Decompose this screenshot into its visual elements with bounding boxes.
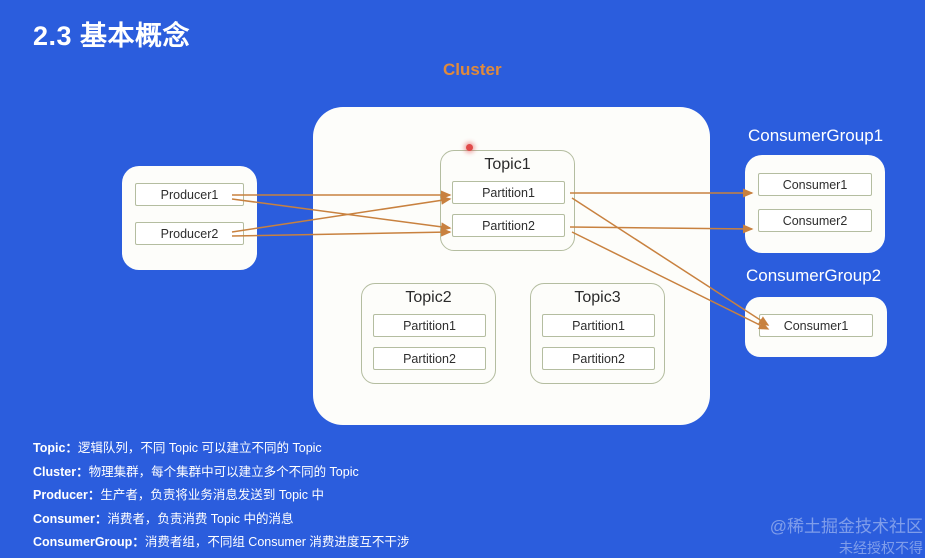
partition-topic2-1: Partition1 (373, 314, 486, 337)
legend: Topic：逻辑队列，不同 Topic 可以建立不同的 Topic Cluste… (33, 437, 513, 555)
consumer-group-2-panel: Consumer1 (745, 297, 887, 357)
producer-1: Producer1 (135, 183, 244, 206)
legend-term: Topic： (33, 441, 78, 455)
legend-item: Producer：生产者，负责将业务消息发送到 Topic 中 (33, 484, 513, 508)
legend-desc: 消费者组，不同组 Consumer 消费进度互不干涉 (145, 535, 410, 549)
watermark-main: @稀土掘金技术社区 (770, 515, 923, 538)
consumer-group-1-panel: Consumer1 Consumer2 (745, 155, 885, 253)
legend-term: Producer： (33, 488, 100, 502)
legend-desc: 物理集群，每个集群中可以建立多个不同的 Topic (89, 465, 359, 479)
topic-box-topic2: Topic2 Partition1 Partition2 (361, 283, 496, 384)
legend-desc: 生产者，负责将业务消息发送到 Topic 中 (100, 488, 324, 502)
legend-item: Topic：逻辑队列，不同 Topic 可以建立不同的 Topic (33, 437, 513, 461)
topic-box-topic3: Topic3 Partition1 Partition2 (530, 283, 665, 384)
legend-item: ConsumerGroup：消费者组，不同组 Consumer 消费进度互不干涉 (33, 531, 513, 555)
watermark-sub: 未经授权不得 (770, 538, 923, 558)
topic-title-topic2: Topic2 (362, 289, 495, 307)
legend-item: Cluster：物理集群，每个集群中可以建立多个不同的 Topic (33, 461, 513, 485)
consumer-group-2-label: ConsumerGroup2 (746, 266, 881, 286)
topic-title-topic3: Topic3 (531, 289, 664, 307)
topic1-status-dot-icon (466, 144, 473, 151)
page-title: 2.3 基本概念 (33, 14, 190, 53)
watermark: @稀土掘金技术社区 未经授权不得 (770, 515, 923, 558)
consumer-group-1-label: ConsumerGroup1 (748, 126, 883, 146)
legend-term: Cluster： (33, 465, 89, 479)
legend-term: Consumer： (33, 512, 107, 526)
legend-desc: 消费者，负责消费 Topic 中的消息 (107, 512, 293, 526)
partition-topic3-1: Partition1 (542, 314, 655, 337)
consumer-group-2-consumer-1: Consumer1 (759, 314, 873, 337)
producer-2: Producer2 (135, 222, 244, 245)
legend-term: ConsumerGroup： (33, 535, 145, 549)
topic-title-topic1: Topic1 (441, 156, 574, 174)
partition-topic1-2: Partition2 (452, 214, 565, 237)
slide-canvas: 2.3 基本概念 Cluster Topic1 Partition1 Parti… (0, 0, 925, 558)
legend-item: Consumer：消费者，负责消费 Topic 中的消息 (33, 508, 513, 532)
partition-topic1-1: Partition1 (452, 181, 565, 204)
cluster-label: Cluster (443, 60, 502, 80)
consumer-group-1-consumer-2: Consumer2 (758, 209, 872, 232)
partition-topic3-2: Partition2 (542, 347, 655, 370)
topic-box-topic1: Topic1 Partition1 Partition2 (440, 150, 575, 251)
legend-desc: 逻辑队列，不同 Topic 可以建立不同的 Topic (78, 441, 322, 455)
producer-panel: Producer1 Producer2 (122, 166, 257, 270)
partition-topic2-2: Partition2 (373, 347, 486, 370)
consumer-group-1-consumer-1: Consumer1 (758, 173, 872, 196)
cluster-panel: Topic1 Partition1 Partition2 Topic2 Part… (313, 107, 710, 425)
